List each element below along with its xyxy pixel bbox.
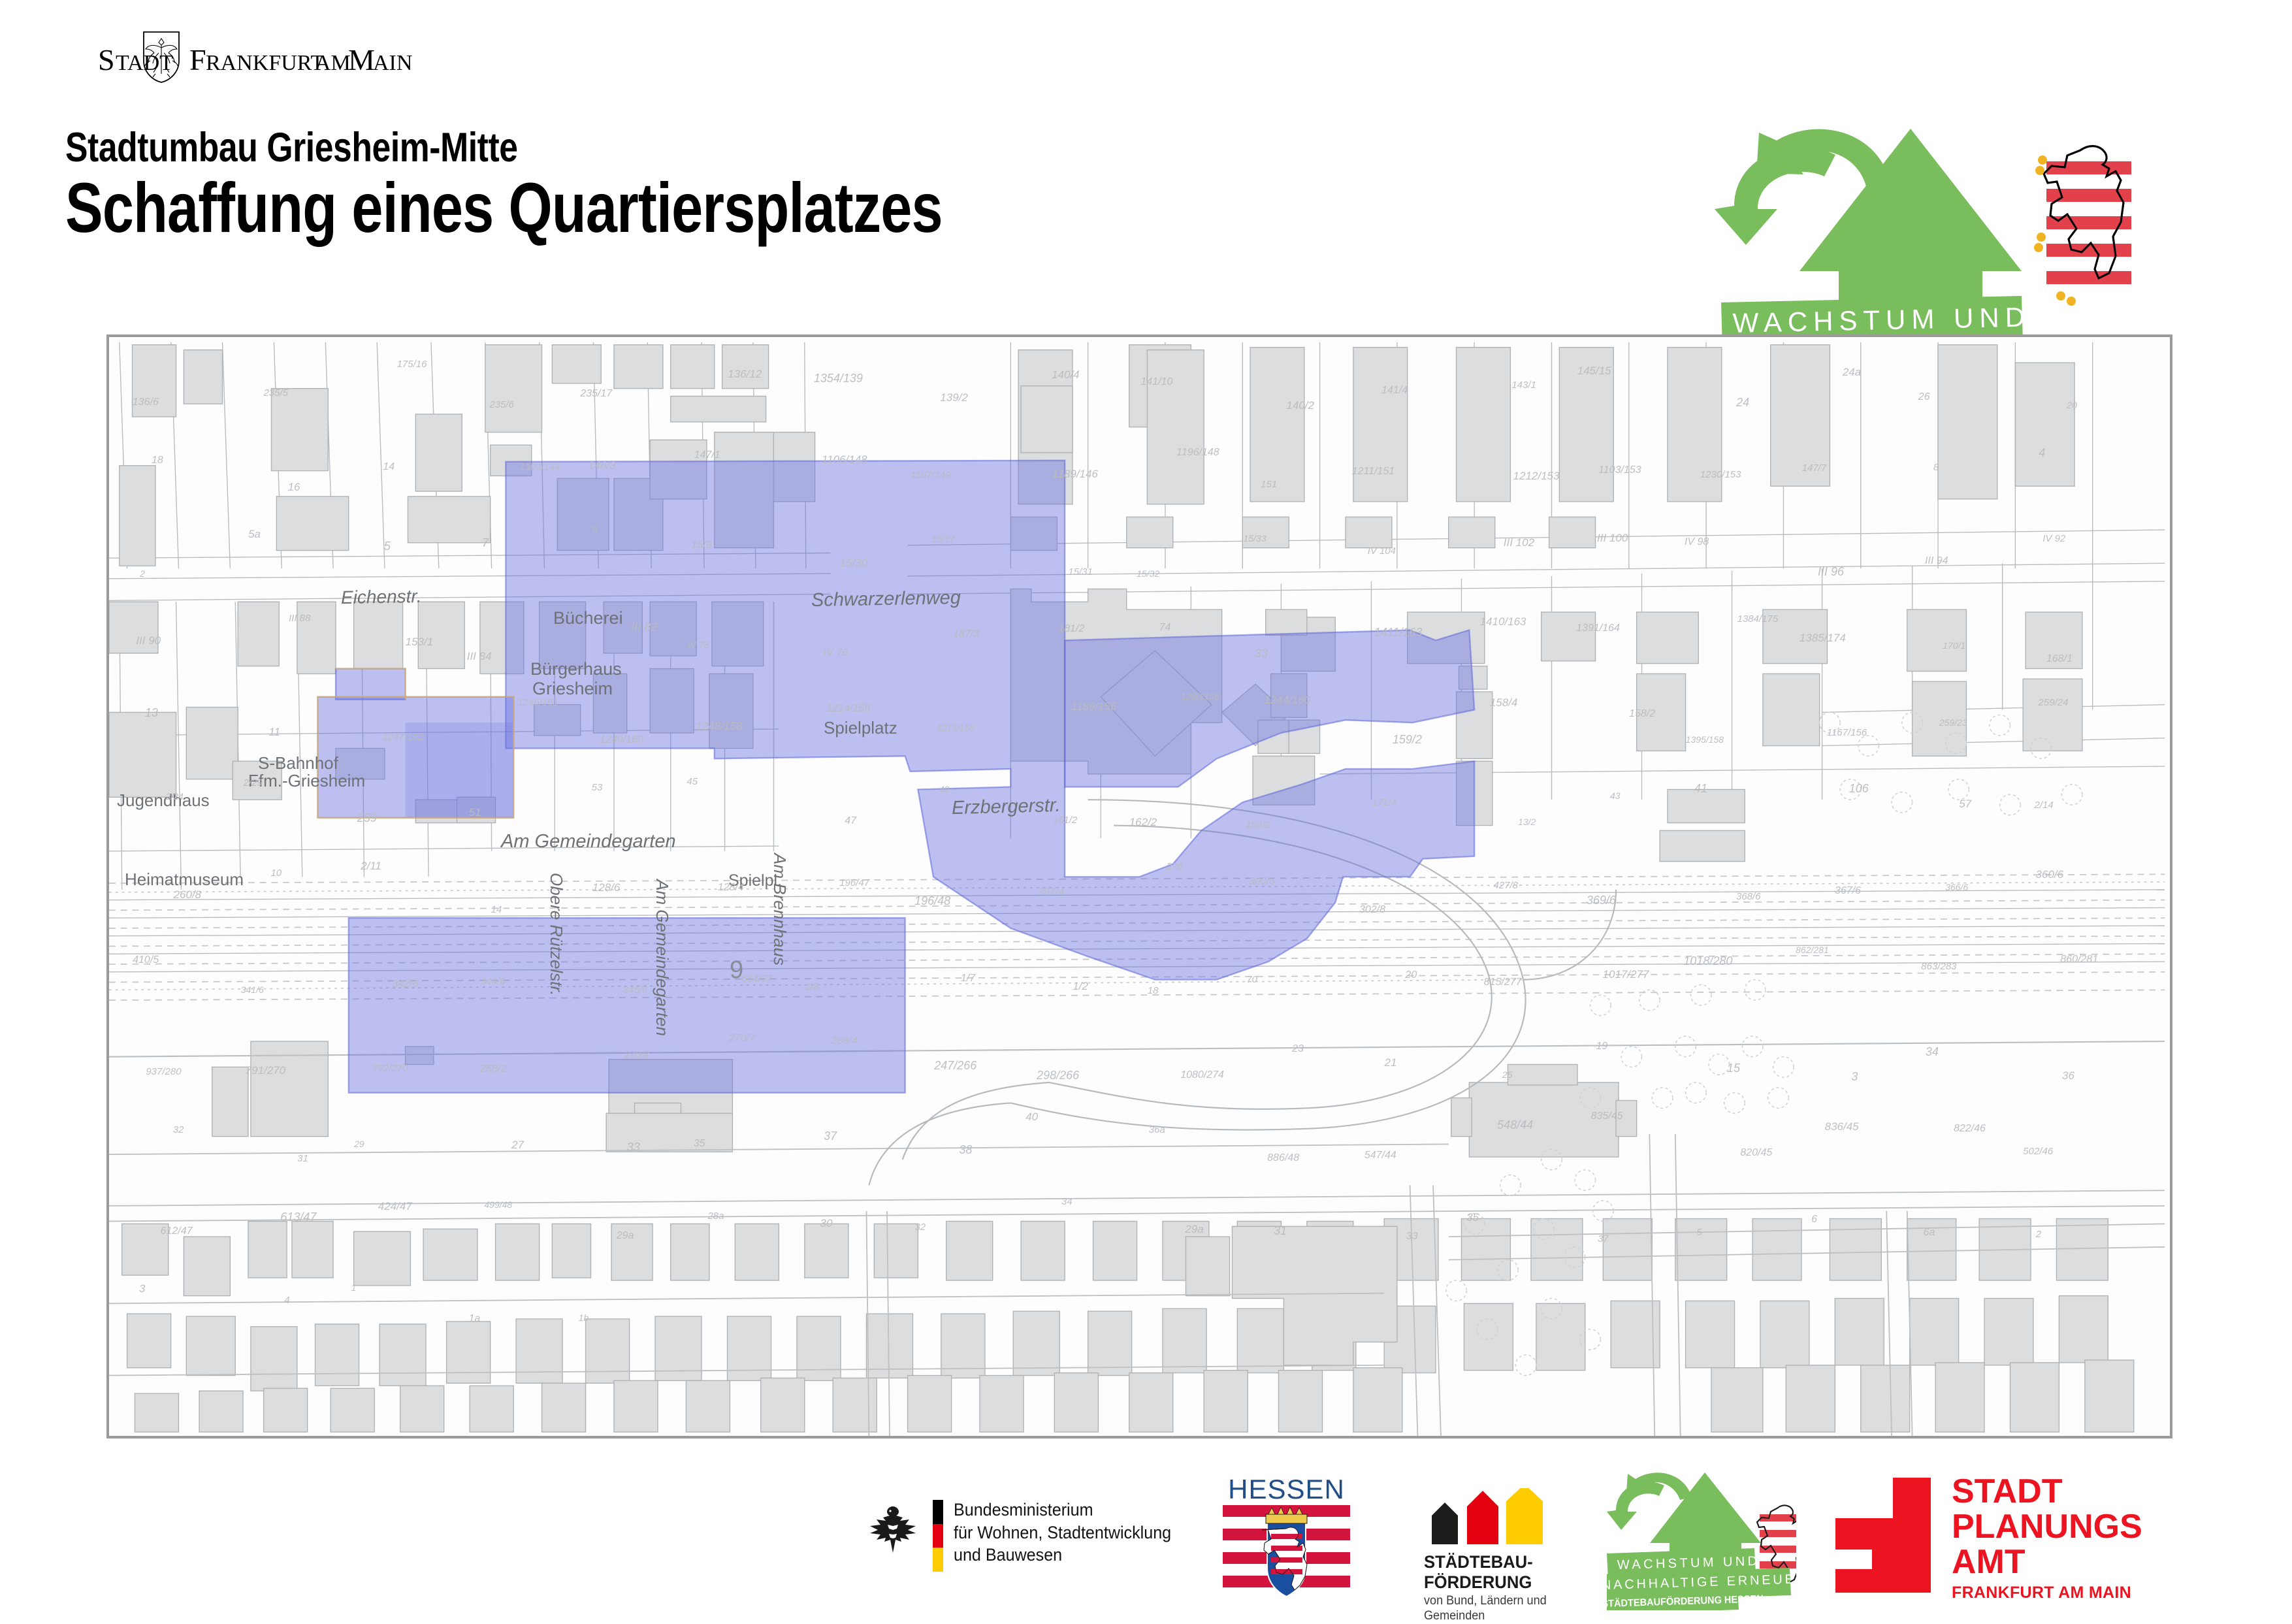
parcel-number: 128/4 xyxy=(718,882,744,894)
staedtebau-subline: von Bund, Ländern und Gemeinden xyxy=(1424,1594,1547,1624)
parcel-number: 1280/156 xyxy=(1181,691,1219,702)
parcel-number: 268/2 xyxy=(480,1064,506,1075)
three-houses-icon xyxy=(1429,1488,1560,1544)
parcel-number: 32 xyxy=(173,1124,184,1135)
parcel-number: 368/6 xyxy=(1736,891,1761,902)
parcel-number: IV 76 xyxy=(824,647,848,659)
parcel-number: 187/3 xyxy=(953,628,979,640)
parcel-number: 427/8 xyxy=(1493,880,1518,891)
parcel-number: IV 92 xyxy=(2042,533,2065,544)
hessen-logo: HESSEN xyxy=(1223,1474,1350,1601)
parcel-number: 14 xyxy=(383,461,395,473)
parcel-number: 1391/164 xyxy=(1576,623,1620,634)
parcel-number: 8 xyxy=(1933,462,1939,473)
parcel-number: 270/7 xyxy=(729,1033,755,1045)
parcel-number: 791/270 xyxy=(246,1064,285,1077)
parcel-number: 18 xyxy=(152,455,163,466)
parcel-number: 1246/161 xyxy=(517,697,558,708)
parcel-number: 33 xyxy=(1255,647,1268,660)
german-flag-bar xyxy=(933,1500,943,1572)
parcel-number: 136/6 xyxy=(133,397,159,408)
parcel-number: 128/6 xyxy=(592,881,621,894)
wachstum-erneuerung-logo-small: WACHSTUM UND NACHHALTIGE ERNEUERUNG STÄD… xyxy=(1607,1470,1796,1610)
parcel-number: 23 xyxy=(1292,1043,1304,1055)
parcel-number: 547/44 xyxy=(1364,1150,1396,1161)
svg-text:S: S xyxy=(98,43,115,76)
parcel-number: 235/17 xyxy=(580,388,612,400)
stadt-frankfurt-logo: S TADT F RANKFURT AM M AIN xyxy=(98,29,516,85)
parcel-number: 147/1 xyxy=(694,449,720,461)
parcel-number: 141/10 xyxy=(1141,376,1173,388)
parcel-number: 34 xyxy=(1926,1045,1939,1059)
parcel-number: 166/2 xyxy=(1246,819,1271,830)
parcel-number: 1189/146 xyxy=(1052,468,1098,481)
parcel-number: 70 xyxy=(1246,974,1257,985)
parcel-number: 268/4 xyxy=(831,1035,858,1047)
parcel-number: 159/2 xyxy=(1393,733,1422,747)
svg-text:F: F xyxy=(189,43,206,76)
parcel-number: 613/47 xyxy=(280,1210,316,1224)
parcel-number: 34 xyxy=(1061,1196,1073,1207)
parcel-number: 1247/162 xyxy=(382,732,423,743)
parcel-number: 31 xyxy=(297,1153,308,1164)
parcel-number: 196/47 xyxy=(839,877,869,888)
parcel-number: 276 xyxy=(1167,861,1183,872)
parcel-number: 937/280 xyxy=(146,1066,181,1077)
parcel-number: 860/281 xyxy=(2060,954,2098,966)
parcel-number: 2/29 xyxy=(244,777,263,788)
parcel-number: 158/4 xyxy=(1490,696,1518,709)
parcel-number: 1249/160 xyxy=(600,734,643,746)
parcel-number: 140/4 xyxy=(1052,368,1080,382)
parcel-number: 235/5 xyxy=(264,387,289,398)
street-label-eichenstr: Eichenstr. xyxy=(341,586,422,608)
parcel-number: 35 xyxy=(1466,1211,1479,1224)
parcel-number: IV 98 xyxy=(1685,536,1709,548)
parcel-number: 170/1 xyxy=(1943,640,1965,651)
parcel-number: 15/31 xyxy=(1068,566,1093,577)
parcel-number: 260/8 xyxy=(174,888,202,901)
parcel-number: 1230/153 xyxy=(1700,469,1741,480)
parcel-number: 143/1 xyxy=(1511,380,1536,391)
spa-line3: AMT xyxy=(1952,1544,2142,1580)
parcel-number: 502/46 xyxy=(2023,1146,2053,1157)
svg-text:RANKFURT: RANKFURT xyxy=(206,51,324,75)
parcel-number: 2/14 xyxy=(2034,800,2053,811)
parcel-number: 37 xyxy=(824,1129,837,1143)
parcel-number: 15/33 xyxy=(1243,533,1266,544)
street-label-erzbergerstr: Erzbergerstr. xyxy=(952,795,1061,819)
parcel-number: 270/2 xyxy=(624,1049,649,1060)
stadtplanungsamt-wordmark: STADT PLANUNGS AMT xyxy=(1952,1474,2142,1580)
poi-label-heimatmuseum: Heimatmuseum xyxy=(125,869,244,890)
parcel-number: 29a xyxy=(1185,1223,1203,1236)
parcel-number: 1/2 xyxy=(1073,980,1088,993)
parcel-number: 36a xyxy=(1149,1124,1165,1135)
svg-text:TADT: TADT xyxy=(116,51,173,75)
parcel-number: 140/2 xyxy=(1286,399,1314,412)
parcel-number: 25 xyxy=(1502,1069,1513,1080)
parcel-number: 3 xyxy=(1851,1070,1858,1084)
parcel-number: 171/4 xyxy=(1372,797,1396,808)
parcel-number: 136/12 xyxy=(728,368,762,381)
parcel-number: 259 xyxy=(357,811,377,825)
parcel-number: 548/44 xyxy=(1497,1118,1533,1132)
parcel-number: 345/6 xyxy=(623,984,648,996)
parcel-number: 13/2 xyxy=(1518,817,1536,827)
parcel-number: 1385/174 xyxy=(1800,632,1846,645)
parcel-number: 145/15 xyxy=(1577,365,1611,378)
parcel-number: 1/7 xyxy=(961,973,975,984)
parcel-number: 1354/139 xyxy=(814,372,863,385)
parcel-number: 815/277 xyxy=(1484,977,1522,988)
parcel-number: 1103/153 xyxy=(1598,464,1641,476)
svg-text:M: M xyxy=(348,43,375,76)
parcel-number: 24 xyxy=(1736,396,1749,410)
parcel-number: 664/37 xyxy=(742,973,772,984)
parcel-number: 38 xyxy=(960,1143,973,1157)
staedtebau-wordmark: STÄDTEBAU- FÖRDERUNG xyxy=(1424,1552,1533,1593)
parcel-number: 5 xyxy=(384,540,391,553)
poi-label-jugendhaus: Jugendhaus xyxy=(117,790,210,811)
parcel-number: 74 xyxy=(1159,622,1171,634)
parcel-number: 151 xyxy=(1261,479,1277,490)
parcel-number: 366/6 xyxy=(1945,882,1968,892)
parcel-number: 341/6 xyxy=(241,984,264,995)
parcel-number: 21 xyxy=(1385,1056,1397,1069)
parcel-number: 57 xyxy=(1959,798,1971,811)
parcel-number: 836/45 xyxy=(1825,1120,1859,1133)
parcel-number: 1017/277 xyxy=(1603,968,1649,981)
parcel-number: 822/46 xyxy=(1954,1123,1986,1135)
parcel-number: 14 xyxy=(491,904,502,915)
parcel-number: 1107/149 xyxy=(911,470,950,481)
parcel-number: 29 xyxy=(354,1139,364,1149)
parcel-number: 33 xyxy=(627,1141,640,1154)
parcel-number: III 100 xyxy=(1597,532,1628,545)
parcel-number: 1196/148 xyxy=(1176,447,1219,459)
parcel-number: 11 xyxy=(268,726,280,739)
spa-line1: STADT xyxy=(1952,1474,2142,1509)
bmwsb-wordmark: Bundesministerium für Wohnen, Stadtentwi… xyxy=(954,1499,1171,1567)
parcel-number: 36 xyxy=(2062,1069,2074,1082)
parcel-number: 13 xyxy=(145,706,158,720)
parcel-number: 367/6 xyxy=(1835,885,1861,897)
parcel-number: 1384/175 xyxy=(1737,613,1779,625)
parcel-number: 424/47 xyxy=(378,1200,412,1213)
parcel-number: 259/24 xyxy=(2039,697,2069,708)
parcel-number: 33 xyxy=(1406,1231,1418,1242)
parcel-number: 5 xyxy=(1696,1227,1702,1238)
parcel-number: 45 xyxy=(686,776,698,787)
parcel-number: 835/45 xyxy=(1591,1111,1623,1122)
street-label-am-gemeindegarten: Am Gemeindegarten xyxy=(501,831,676,853)
parcel-number: III 102 xyxy=(1504,536,1534,549)
stadtplanungsamt-mark-icon xyxy=(1835,1478,1931,1593)
parcel-number: 28a xyxy=(707,1210,724,1222)
street-label-schwarzerlenweg: Schwarzerlenweg xyxy=(811,587,961,611)
parcel-number: 300/5 xyxy=(1249,876,1275,888)
parcel-number: 410/5 xyxy=(133,954,159,966)
poi-label-buergerhaus: Bürgerhaus xyxy=(530,659,622,679)
bundesministerium-logo: Bundesministerium für Wohnen, Stadtentwi… xyxy=(869,1471,1208,1602)
street-label-am-gemeindegarten-2: Am Gemeindegarten xyxy=(652,879,672,1036)
parcel-number: 2/24 xyxy=(166,791,184,802)
parcel-number: 1395/158 xyxy=(1686,734,1724,745)
parcel-number: 820/45 xyxy=(1740,1147,1772,1159)
poi-label-spielplatz: Spielplatz xyxy=(824,718,897,738)
page-header: S TADT F RANKFURT AM M AIN Stadtumbau Gr… xyxy=(0,0,2292,327)
spa-subline: FRANKFURT AM MAIN xyxy=(1952,1583,2131,1602)
parcel-number: 1411/163 xyxy=(1374,626,1423,640)
parcel-number: 863/283 xyxy=(1921,961,1956,972)
parcel-number: IV 104 xyxy=(1368,545,1396,557)
wachstum-line1: WACHSTUM UND xyxy=(1732,301,2031,338)
parcel-number: 18 xyxy=(1148,985,1159,996)
hessen-wordmark: HESSEN xyxy=(1223,1474,1350,1505)
parcel-number: 40 xyxy=(1025,1111,1038,1124)
parcel-number: 51 xyxy=(469,806,481,819)
parcel-number: 168/1 xyxy=(2046,653,2073,665)
staedtebau-line2: FÖRDERUNG xyxy=(1424,1572,1533,1593)
parcel-number: 162/2 xyxy=(1129,816,1157,829)
bundesadler-icon xyxy=(869,1505,917,1559)
parcel-number: 53 xyxy=(592,782,603,793)
parcel-number: III 94 xyxy=(1925,555,1948,567)
parcel-number: 27 xyxy=(511,1139,524,1152)
parcel-number: III 88 xyxy=(289,613,310,624)
parcel-number: 2 xyxy=(2036,1229,2041,1240)
parcel-number: 1211/151 xyxy=(1352,466,1395,478)
parcel-number: 1106/148 xyxy=(822,453,867,466)
parcel-number: 792/270 xyxy=(372,1063,408,1074)
parcel-number: III 90 xyxy=(136,634,161,647)
hessen-coat-of-arms-icon xyxy=(1223,1505,1350,1603)
parcel-number: 106 xyxy=(1849,782,1869,796)
stadtplanungsamt-logo: STADT PLANUNGS AMT FRANKFURT AM MAIN xyxy=(1835,1474,2188,1604)
parcel-number: 146/3 xyxy=(588,459,616,472)
parcel-number: 342/6 xyxy=(392,979,418,990)
parcel-number: 7 xyxy=(482,536,489,550)
poi-label-ffm-griesheim: Ffm.-Griesheim xyxy=(248,771,365,791)
parcel-number: 15/9 xyxy=(691,540,711,551)
parcel-number: 1213/156 xyxy=(937,723,975,733)
bmwsb-line2: für Wohnen, Stadtentwicklung xyxy=(954,1521,1171,1544)
parcel-number: 302/8 xyxy=(1359,904,1385,916)
parcel-number: 161/2 xyxy=(1053,815,1078,826)
parcel-number: 2 xyxy=(140,568,145,579)
parcel-number: 47 xyxy=(845,815,856,827)
parcel-number: III 96 xyxy=(1818,565,1844,579)
parcel-number: 41 xyxy=(1694,782,1707,796)
poi-label-buecherei: Bücherei xyxy=(553,608,623,628)
parcel-number: 196/48 xyxy=(914,894,950,908)
parcel-number: 1 xyxy=(351,1282,357,1293)
parcel-number: 32 xyxy=(914,1222,926,1233)
parcel-number: 1244/160 xyxy=(1264,694,1310,707)
parcel-number: 49 xyxy=(939,784,950,794)
parcel-number: 6 xyxy=(1811,1214,1817,1226)
parcel-number: 24a xyxy=(1843,366,1861,379)
parcel-number: 862/281 xyxy=(1796,945,1829,955)
parcel-number: 19 xyxy=(1596,1041,1607,1052)
parcel-number: 1/8 xyxy=(805,981,819,992)
parcel-number: 369/6 xyxy=(1587,894,1616,907)
parcel-number: 141/4 xyxy=(1381,385,1408,397)
street-label-am-brennhaus: Am Brennhaus xyxy=(769,853,790,966)
parcel-number: 1410/163 xyxy=(1480,615,1526,628)
funding-logo-bar: Bundesministerium für Wohnen, Stadtentwi… xyxy=(0,1457,2292,1620)
hessen-lion-icon xyxy=(2034,146,2131,306)
parcel-number: 2/11 xyxy=(361,860,381,873)
parcel-number: 235/6 xyxy=(489,399,514,410)
subtitle-kicker: Stadtumbau Griesheim-Mitte xyxy=(65,124,518,171)
parcel-number: 1189/156 xyxy=(1071,700,1117,713)
cadastral-map[interactable]: Eichenstr. Schwarzerlenweg Erzbergerstr.… xyxy=(106,334,2172,1438)
parcel-number: 1080/274 xyxy=(1180,1069,1224,1081)
parcel-number: 4 xyxy=(284,1295,289,1306)
parcel-number: 29a xyxy=(617,1230,634,1242)
parcel-number: 10 xyxy=(270,868,282,879)
parcel-number: 175/16 xyxy=(397,359,427,370)
staedtebau-line1: STÄDTEBAU- xyxy=(1424,1552,1533,1572)
parcel-number: 499/48 xyxy=(484,1199,512,1210)
svg-text:AM: AM xyxy=(315,51,351,75)
bmwsb-line1: Bundesministerium xyxy=(954,1499,1171,1521)
spa-line2: PLANUNGS xyxy=(1952,1509,2142,1544)
parcel-number: 1248/158 xyxy=(696,720,742,733)
parcel-number: 1214/156 xyxy=(827,703,871,715)
parcel-number: 4 xyxy=(2039,446,2045,460)
parcel-number: 16 xyxy=(288,481,300,494)
parcel-number: 20 xyxy=(2067,400,2077,410)
parcel-number: 35 xyxy=(694,1138,705,1150)
staedtebau-line4: Gemeinden xyxy=(1424,1609,1547,1624)
parcel-number: 15/30 xyxy=(840,557,868,570)
svg-text:AIN: AIN xyxy=(373,51,412,75)
staedtebaufoerderung-logo: STÄDTEBAU- FÖRDERUNG von Bund, Ländern u… xyxy=(1411,1472,1581,1610)
parcel-number: 1303/144 xyxy=(519,462,560,473)
parcel-number: 158/2 xyxy=(1629,708,1655,720)
parcel-number: 1b xyxy=(579,1312,589,1323)
parcel-number: 20 xyxy=(1405,969,1417,981)
parcel-number: 139/2 xyxy=(940,391,968,404)
parcel-number: III 84 xyxy=(467,650,492,663)
parcel-number: 1018/280 xyxy=(1683,954,1732,968)
parcel-number: 886/48 xyxy=(1267,1152,1299,1164)
parcel-number: 3 xyxy=(139,1282,145,1295)
parcel-number: 153/1 xyxy=(406,636,434,649)
bmwsb-line3: und Bauwesen xyxy=(954,1544,1171,1567)
page-title: Schaffung eines Quartiersplatzes xyxy=(65,167,943,248)
parcel-number: 1212/153 xyxy=(1513,470,1560,483)
parcel-number: 259/23 xyxy=(1939,717,1967,728)
parcel-number: 5a xyxy=(248,528,261,541)
parcel-number: 360/6 xyxy=(2036,868,2064,881)
parcel-number: 15/32 xyxy=(1137,568,1159,579)
parcel-number: 30 xyxy=(820,1217,833,1230)
parcel-number: 43 xyxy=(1610,790,1621,801)
parcel-number: 247/266 xyxy=(934,1059,977,1073)
parcel-number: 1167/156 xyxy=(1827,727,1867,738)
parcel-number: 181/2 xyxy=(1058,623,1084,635)
parcel-number: 6a xyxy=(1924,1227,1935,1239)
parcel-number: 1a xyxy=(468,1313,480,1325)
poi-label-griesheim: Griesheim xyxy=(532,679,613,699)
parcel-number: 15/17 xyxy=(931,534,954,544)
parcel-number: 298/266 xyxy=(1037,1069,1079,1082)
parcel-number: 297/4 xyxy=(1038,886,1064,898)
parcel-number: III 82 xyxy=(631,621,657,634)
parcel-number: 26 xyxy=(1918,391,1930,403)
parcel-number: 344/6 xyxy=(481,976,506,987)
parcel-number: 37 xyxy=(1598,1233,1609,1244)
parcel-number: IV 78 xyxy=(688,640,709,650)
parcel-number: 147/7 xyxy=(1802,463,1827,474)
parcel-number: 9 xyxy=(592,525,597,536)
parcel-number: 15 xyxy=(1727,1062,1740,1075)
parcel-number: 31 xyxy=(1274,1224,1287,1238)
parcel-number: 612/47 xyxy=(161,1226,193,1237)
street-label-obere-ruetzelstr: Obere Rützelstr. xyxy=(546,873,566,996)
staedtebau-line3: von Bund, Ländern und xyxy=(1424,1594,1547,1609)
